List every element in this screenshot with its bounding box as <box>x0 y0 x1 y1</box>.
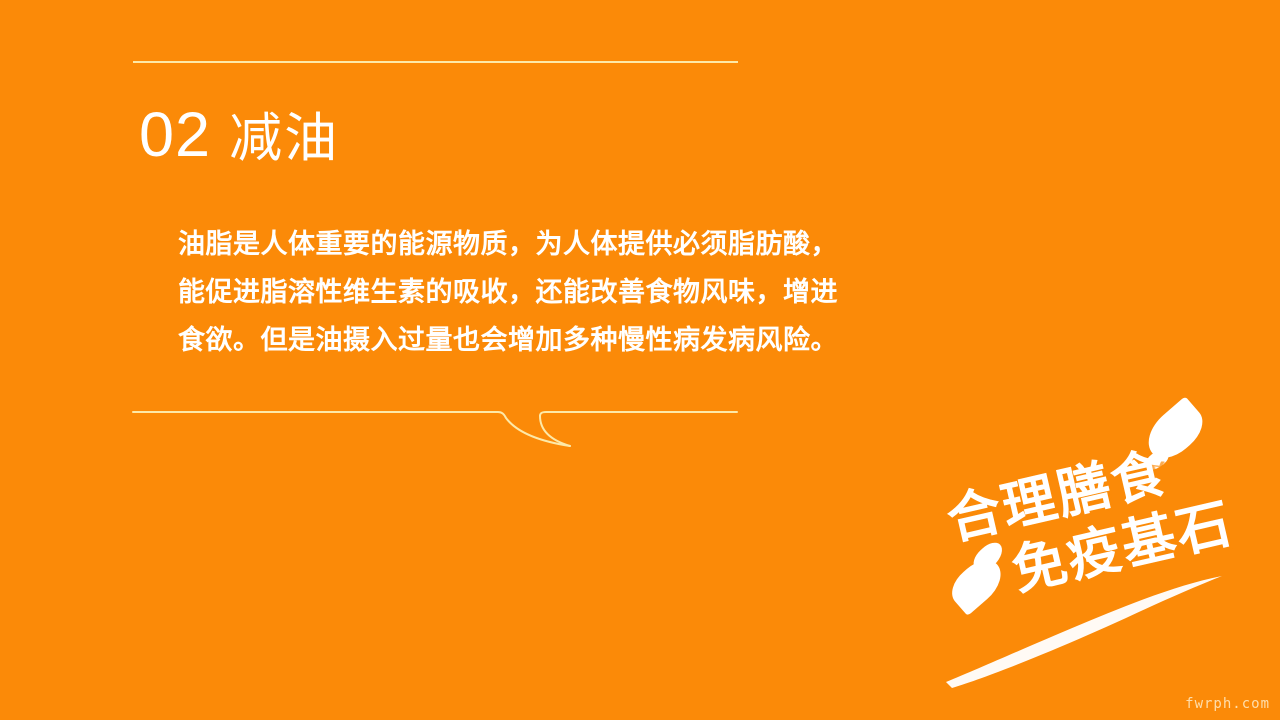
body-line: 油脂是人体重要的能源物质，为人体提供必须脂肪酸， <box>178 220 858 268</box>
bottom-divider-rule-with-tail <box>120 390 760 470</box>
campaign-logo: 合理膳食 免疫基石 <box>930 430 1280 690</box>
body-line: 食欲。但是油摄入过量也会增加多种慢性病发病风险。 <box>178 316 858 364</box>
slide-canvas: 02 减油 油脂是人体重要的能源物质，为人体提供必须脂肪酸， 能促进脂溶性维生素… <box>0 0 1280 720</box>
speech-bubble-tail-icon <box>120 390 760 470</box>
logo-rotated-group: 合理膳食 免疫基石 <box>907 388 1280 720</box>
top-divider-rule <box>133 61 738 63</box>
body-line: 能促进脂溶性维生素的吸收，还能改善食物风味，增进 <box>178 268 858 316</box>
section-title-text: 减油 <box>229 112 339 165</box>
site-watermark: fwrph.com <box>1185 696 1270 712</box>
page-title: 02 减油 <box>139 104 339 167</box>
body-paragraph: 油脂是人体重要的能源物质，为人体提供必须脂肪酸， 能促进脂溶性维生素的吸收，还能… <box>178 220 858 364</box>
section-number: 02 <box>139 104 211 167</box>
